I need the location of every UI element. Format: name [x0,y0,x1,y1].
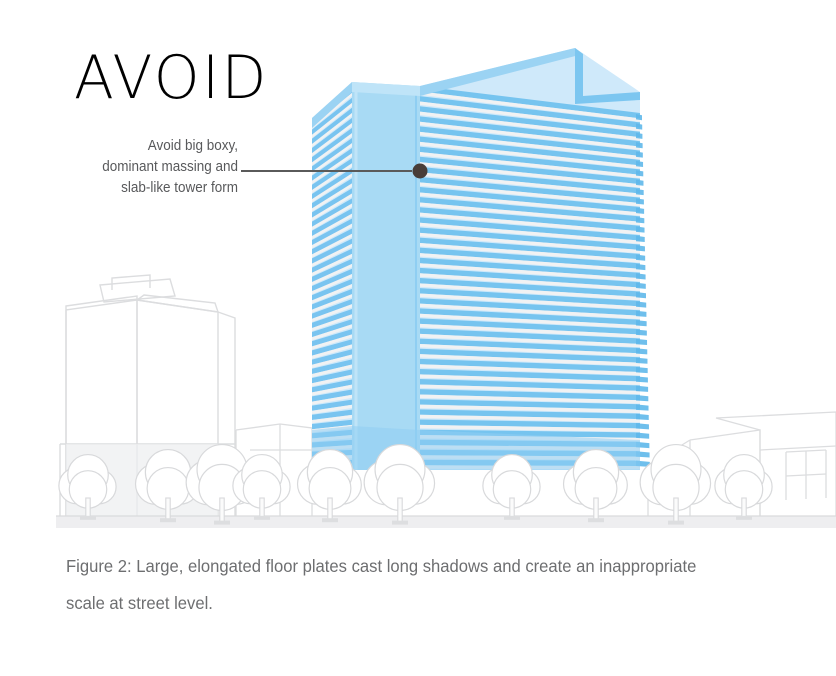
callout-marker-dot [413,164,428,179]
slab-tower [310,48,650,470]
callout-annotation: Avoid big boxy, dominant massing and sla… [43,136,238,199]
tower-pilaster [352,82,420,470]
callout-line-3: slab-like tower form [43,178,238,199]
page-title: AVOID [74,46,269,110]
figure-caption: Figure 2: Large, elongated floor plates … [66,548,712,622]
tower-floor-bands-right [420,86,648,469]
figure-page: AVOID Avoid big boxy, dominant massing a… [0,0,836,676]
callout-line-1: Avoid big boxy, [43,136,238,157]
callout-line-2: dominant massing and [43,157,238,178]
